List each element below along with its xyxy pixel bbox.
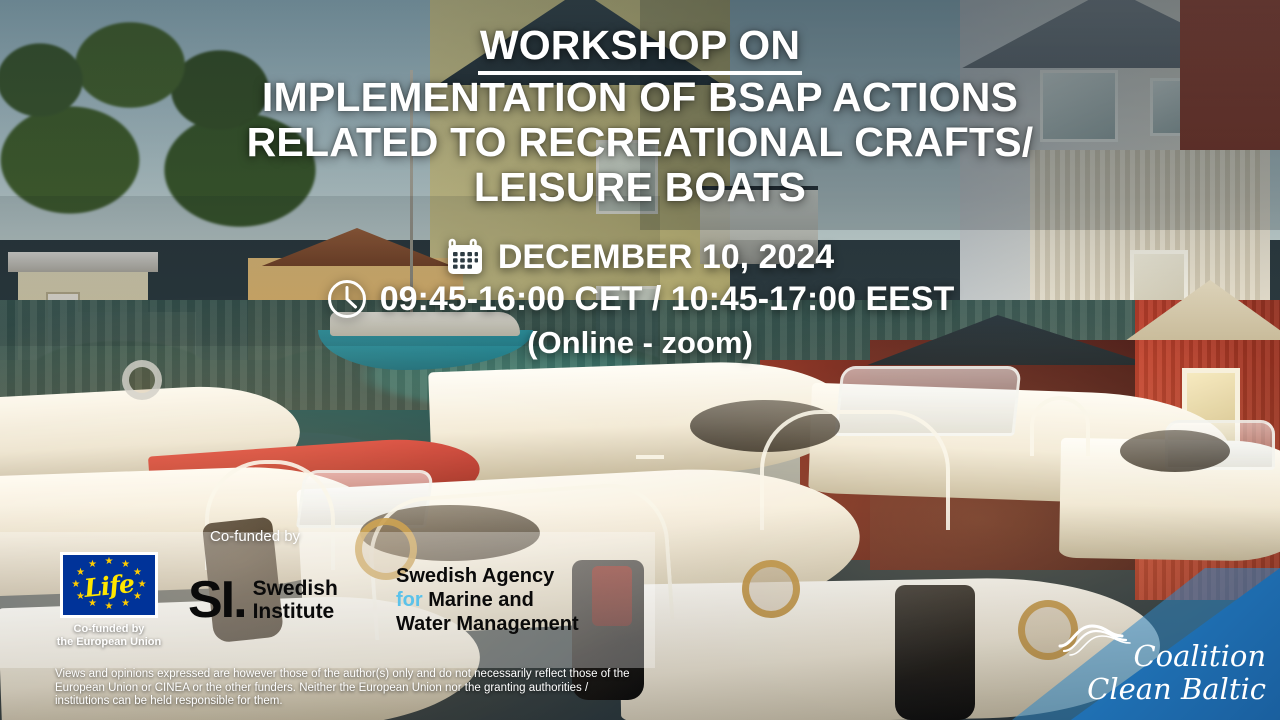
steering-wheel-2 — [742, 560, 800, 618]
headline-block: WORKSHOP ON IMPLEMENTATION OF BSAP ACTIO… — [0, 22, 1280, 210]
life-wordmark: Life — [83, 569, 136, 603]
funder-logos: ★ ★ ★ ★ ★ ★ ★ ★ ★ ★ ★ ★ Life Co-funded b… — [0, 532, 655, 668]
eu-star: ★ — [121, 599, 130, 609]
steering-wheel-4 — [122, 360, 162, 400]
ccb-wordmark: Coalition Clean Baltic — [1087, 640, 1266, 706]
calendar-icon — [446, 237, 486, 277]
eu-caption-line-2: the European Union — [44, 636, 174, 649]
boat-rail-4 — [1030, 396, 1090, 456]
headline-line-3: RELATED TO RECREATIONAL CRAFTS/ — [0, 120, 1280, 165]
sa-line-1: Swedish Agency — [396, 564, 636, 588]
headline-line-4: LEISURE BOATS — [0, 165, 1280, 210]
swedish-institute-logo: Co-funded by SI. Swedish Institute — [188, 574, 386, 626]
event-format: (Online - zoom) — [0, 322, 1280, 364]
sa-line-2-row: for Marine and — [396, 588, 636, 612]
eu-star: ★ — [133, 568, 142, 578]
ccb-line-1: Coalition — [1087, 640, 1266, 673]
si-name-line-2: Institute — [253, 600, 338, 623]
boat-rail-3 — [760, 410, 950, 530]
si-monogram: SI. — [188, 574, 246, 626]
event-date-row: DECEMBER 10, 2024 — [0, 236, 1280, 278]
eu-star: ★ — [138, 580, 147, 590]
sa-line-3: Water Management — [396, 612, 636, 636]
si-name: Swedish Institute — [253, 577, 338, 623]
eu-star: ★ — [76, 592, 85, 602]
eu-life-logo: ★ ★ ★ ★ ★ ★ ★ ★ ★ ★ ★ ★ Life Co-funded b… — [44, 552, 174, 649]
headline-line-1: WORKSHOP ON — [478, 22, 802, 75]
clock-icon — [326, 278, 368, 320]
eu-caption: Co-funded by the European Union — [44, 623, 174, 649]
outboard-motor-3 — [895, 585, 975, 720]
event-time: 09:45-16:00 CET / 10:45-17:00 EEST — [380, 278, 955, 320]
event-date: DECEMBER 10, 2024 — [498, 236, 834, 278]
eu-star: ★ — [121, 560, 130, 570]
eu-caption-line-1: Co-funded by — [44, 623, 174, 636]
eu-flag: ★ ★ ★ ★ ★ ★ ★ ★ ★ ★ ★ ★ Life — [60, 552, 158, 618]
ccb-line-2: Clean Baltic — [1087, 673, 1266, 706]
eu-star: ★ — [105, 557, 114, 567]
eu-star: ★ — [105, 602, 114, 612]
eu-star: ★ — [71, 580, 80, 590]
swedish-agency-marine-water-logo: Swedish Agency for Marine and Water Mana… — [396, 564, 636, 636]
sa-for-word: for — [396, 589, 423, 611]
si-name-line-1: Swedish — [253, 577, 338, 600]
poster-canvas: WORKSHOP ON IMPLEMENTATION OF BSAP ACTIO… — [0, 0, 1280, 720]
sa-line-2: Marine and — [428, 589, 534, 611]
headline-line-2: IMPLEMENTATION OF BSAP ACTIONS — [0, 75, 1280, 120]
boat-cockpit-3 — [1120, 430, 1230, 472]
event-details-block: DECEMBER 10, 2024 09:45-16:00 CET / 10:4… — [0, 236, 1280, 364]
funding-disclaimer: Views and opinions expressed are however… — [55, 668, 640, 709]
coalition-clean-baltic-logo: Coalition Clean Baltic — [1012, 568, 1280, 720]
si-cofunded-label: Co-funded by — [210, 528, 300, 545]
si-lockup: SI. Swedish Institute — [188, 574, 386, 626]
event-time-row: 09:45-16:00 CET / 10:45-17:00 EEST — [0, 278, 1280, 320]
eu-star: ★ — [88, 560, 97, 570]
